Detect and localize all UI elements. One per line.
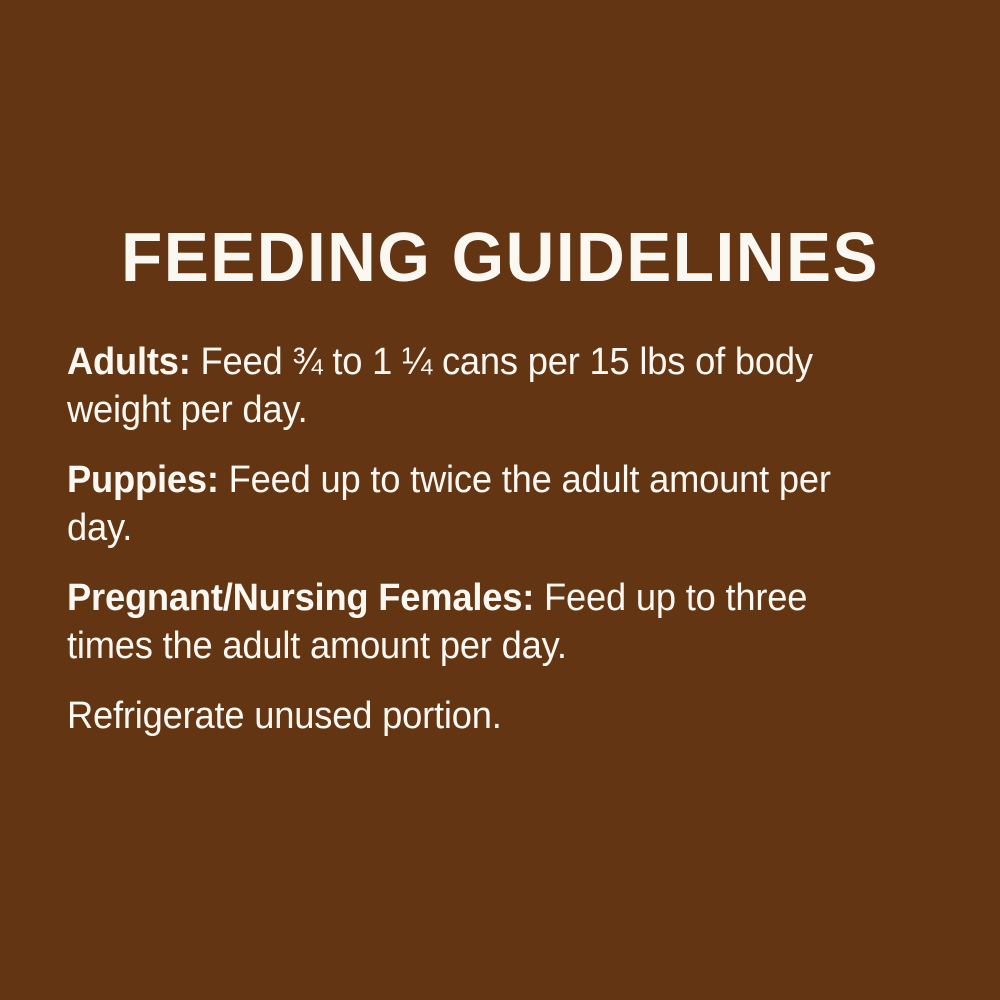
guideline-label-pregnant-nursing-females: Pregnant/Nursing Females: — [67, 577, 534, 619]
guidelines-body: Adults: Feed ¾ to 1 ¼ cans per 15 lbs of… — [67, 338, 897, 740]
refrigerate-note: Refrigerate unused portion. — [67, 692, 891, 740]
page-title: FEEDING GUIDELINES — [18, 218, 983, 296]
guideline-paragraph-pregnant-nursing-females: Pregnant/Nursing Females: Feed up to thr… — [67, 574, 891, 670]
guideline-label-puppies: Puppies: — [67, 459, 219, 501]
guideline-paragraph-adults: Adults: Feed ¾ to 1 ¼ cans per 15 lbs of… — [67, 338, 891, 434]
feeding-guidelines-panel: FEEDING GUIDELINES Adults: Feed ¾ to 1 ¼… — [0, 0, 1000, 1000]
guideline-paragraph-puppies: Puppies: Feed up to twice the adult amou… — [67, 456, 891, 552]
guideline-label-adults: Adults: — [67, 341, 191, 383]
